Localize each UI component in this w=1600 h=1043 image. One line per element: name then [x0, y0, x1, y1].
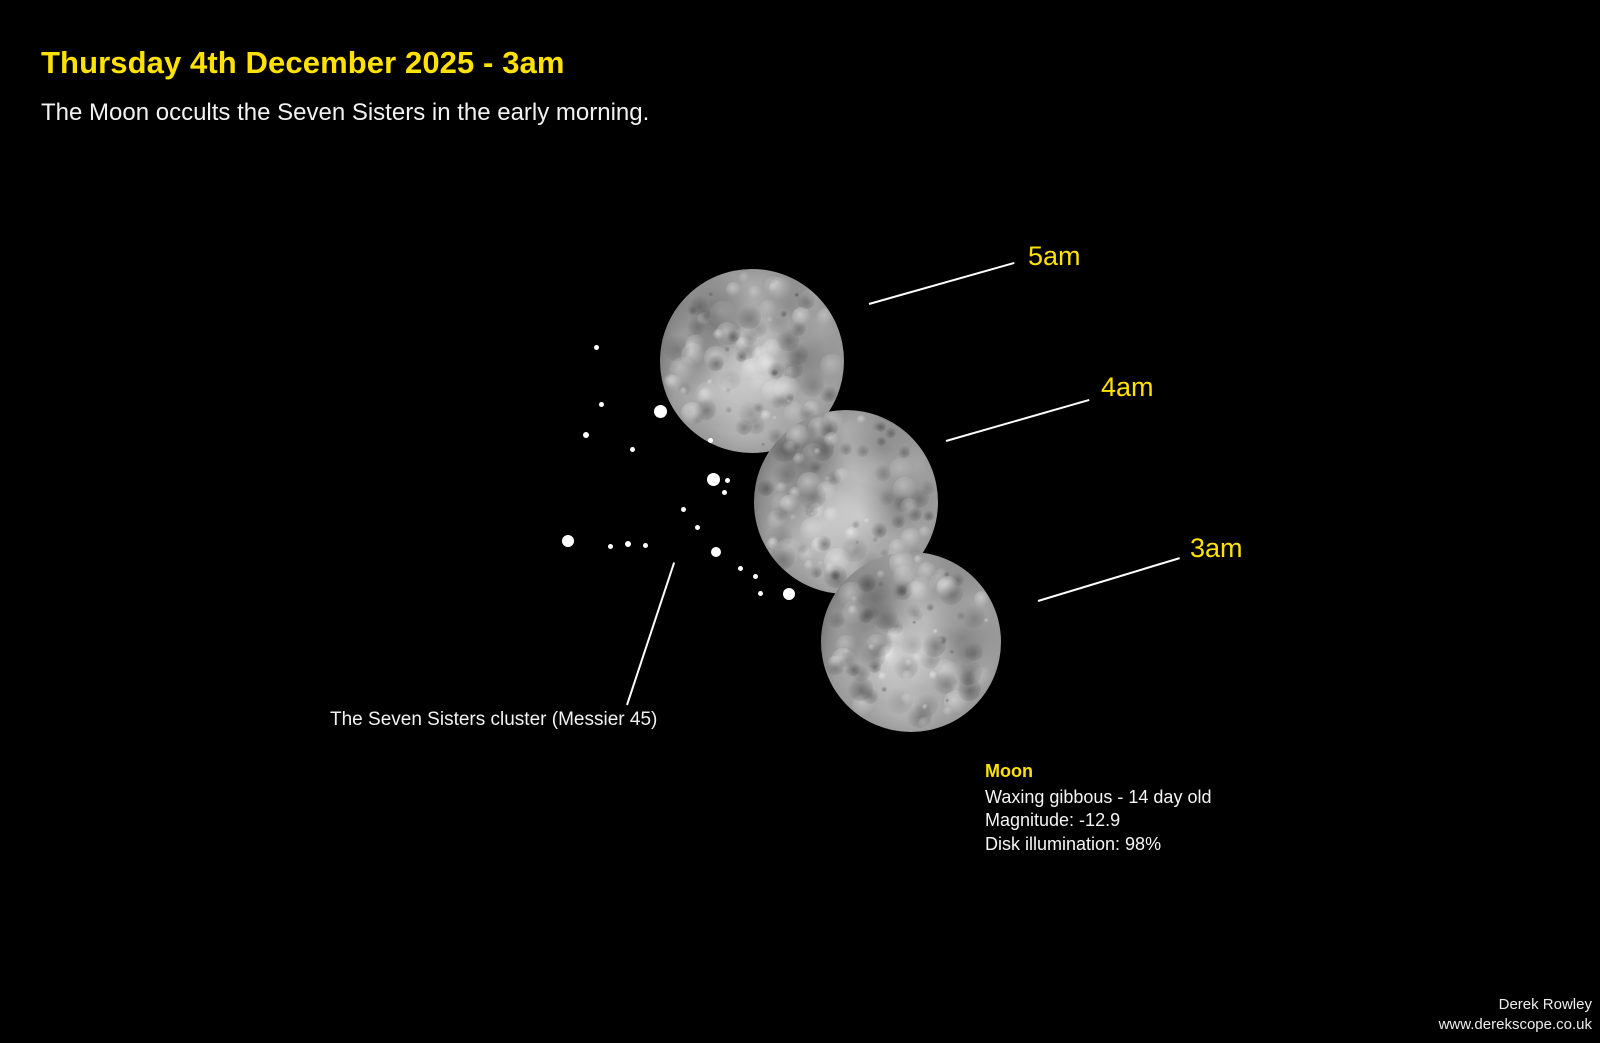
moon-crater [738, 401, 761, 424]
moon-crater [792, 307, 811, 326]
moon-crater [889, 458, 913, 482]
star-point [753, 574, 758, 579]
star-point [708, 438, 713, 443]
moon-crater [920, 480, 935, 495]
moon-crater [830, 569, 841, 580]
moon-crater [851, 596, 858, 603]
moon-crater [786, 424, 810, 448]
moon-crater [816, 535, 832, 551]
moon-crater [825, 476, 831, 482]
moon-crater [944, 571, 949, 576]
star-point [695, 525, 700, 530]
moon-crater [814, 448, 821, 455]
moon-crater [857, 573, 877, 593]
moon-crater [918, 562, 936, 580]
moon-crater [665, 375, 681, 391]
moon-crater [749, 374, 769, 394]
moon-crater [837, 651, 853, 667]
leader-4am [946, 399, 1090, 442]
star-point [738, 566, 743, 571]
moon-crater [913, 653, 921, 661]
moon-crater [786, 392, 794, 400]
moon-crater [877, 580, 884, 587]
moon-crater [852, 694, 875, 717]
moon-crater [862, 687, 879, 704]
moon-crater [864, 605, 879, 620]
star-point [711, 547, 721, 557]
moon-crater [824, 548, 851, 575]
moon-crater [725, 406, 732, 413]
moon-crater [769, 283, 777, 291]
star-point [654, 405, 667, 418]
moon-crater [736, 337, 750, 351]
moon-crater [752, 346, 770, 364]
moon-crater [753, 402, 763, 412]
moon-crater [695, 398, 716, 419]
moon-crater [698, 388, 713, 403]
moon-crater [858, 607, 873, 622]
star-point [758, 591, 763, 596]
moon-crater [936, 579, 956, 599]
moon-crater [669, 357, 696, 384]
moon-crater [935, 659, 956, 680]
star-point [707, 473, 720, 486]
moon-crater [699, 309, 711, 321]
star-point [725, 478, 730, 483]
sky-chart-canvas: Thursday 4th December 2025 - 3am The Moo… [0, 0, 1600, 1043]
moon-crater [962, 605, 986, 629]
moon-crater [804, 422, 818, 436]
moon-crater [874, 464, 891, 481]
moon-crater [708, 292, 712, 296]
leader-3am [1038, 557, 1181, 602]
moon-crater [707, 379, 713, 385]
moon-crater [984, 618, 989, 623]
moon-crater [876, 421, 887, 432]
moon-crater [811, 512, 815, 516]
moon-crater [839, 442, 852, 455]
moon-crater [910, 608, 923, 621]
moon-crater [878, 646, 895, 663]
moon-crater [933, 629, 937, 633]
moon-crater [717, 320, 741, 344]
moon-crater [860, 642, 886, 668]
moon-crater [757, 479, 773, 495]
moon-crater [895, 584, 907, 596]
moon-crater [914, 693, 938, 717]
moon-crater [926, 603, 934, 611]
moon-crater [799, 288, 826, 315]
moon-crater [681, 402, 703, 424]
moon-crater [919, 526, 931, 538]
moon-crater [951, 573, 964, 586]
moon-crater [810, 566, 822, 578]
credits: Derek Rowley www.derekscope.co.uk [1439, 995, 1592, 1036]
moon-crater [905, 659, 913, 667]
moon-crater [847, 544, 858, 555]
moon-crater [949, 649, 954, 654]
moon-crater [688, 318, 705, 335]
moon-crater [773, 416, 777, 420]
moon-crater [663, 334, 689, 360]
moon-crater [797, 543, 808, 554]
time-label-3am: 3am [1190, 533, 1243, 564]
moon-crater [774, 461, 796, 483]
moon-crater [820, 354, 844, 379]
star-point [643, 543, 648, 548]
moon-crater [697, 312, 711, 326]
moon-crater [800, 372, 824, 396]
star-point [681, 507, 686, 512]
moon-crater [938, 635, 947, 644]
moon-crater [757, 354, 777, 374]
moon-crater [810, 436, 835, 461]
moon-crater [686, 407, 693, 414]
moon-crater [868, 644, 875, 651]
star-point [722, 490, 727, 495]
moon-crater [790, 514, 796, 520]
moon-crater [933, 670, 957, 694]
moon-crater [851, 663, 870, 682]
moon-crater [956, 611, 965, 620]
moon-crater [906, 603, 920, 617]
moon-crater [918, 717, 930, 729]
moon-crater [909, 488, 929, 508]
moon-crater [910, 577, 935, 602]
moon-crater [695, 382, 718, 405]
moon-crater [725, 387, 731, 393]
moon-crater [923, 510, 933, 520]
moon-crater [841, 536, 867, 562]
moon-crater [736, 339, 756, 359]
moon-crater [871, 603, 897, 629]
moon-crater [848, 605, 858, 615]
moon-crater [782, 358, 803, 379]
moon-crater [922, 704, 927, 709]
moon-crater [959, 670, 975, 686]
moon-crater [724, 346, 730, 352]
moon-crater [872, 536, 878, 542]
credit-author: Derek Rowley [1439, 995, 1592, 1015]
moon-crater [939, 662, 964, 687]
moon-crater [770, 393, 786, 409]
moon-crater [770, 369, 778, 377]
moon-crater [762, 339, 783, 360]
moon-crater [892, 579, 913, 600]
star-point [599, 402, 604, 407]
moon-crater [901, 633, 922, 654]
moon-crater [838, 582, 865, 609]
moon-crater [761, 410, 772, 421]
moon-crater [851, 520, 860, 529]
moon-crater [691, 412, 703, 424]
moon-crater [735, 418, 752, 435]
moon-crater [956, 659, 982, 685]
credit-website: www.derekscope.co.uk [1439, 1015, 1592, 1035]
moon-crater [856, 444, 869, 457]
moon-crater [808, 417, 830, 439]
moon-crater [726, 282, 742, 298]
moon-crater [792, 441, 802, 451]
time-label-4am: 4am [1101, 372, 1154, 403]
moon-crater [842, 601, 866, 625]
moon-crater [760, 300, 777, 317]
moon-crater [938, 638, 944, 644]
moon-crater [741, 329, 757, 345]
moon-crater [818, 561, 823, 566]
moon-crater [957, 643, 977, 663]
moon-crater [789, 487, 801, 499]
moon-crater [794, 292, 800, 298]
moon-crater [778, 391, 794, 407]
moon-crater [719, 368, 741, 390]
moon-crater [971, 667, 993, 689]
moon-crater [791, 321, 806, 336]
moon-crater [786, 366, 798, 378]
moon-phase-line: Waxing gibbous - 14 day old [985, 786, 1211, 810]
moon-crater [893, 494, 911, 512]
moon-crater [906, 581, 927, 602]
moon-crater [824, 507, 839, 522]
moon-crater [733, 327, 756, 350]
moon-crater [748, 286, 762, 300]
moon-crater [811, 537, 827, 553]
moon-crater [707, 354, 724, 371]
moon-info-title: Moon [985, 760, 1211, 783]
moon-crater [877, 570, 886, 579]
moon-crater [935, 568, 947, 580]
moon-crater [964, 642, 983, 661]
moon-crater [907, 703, 932, 728]
moon-crater [847, 529, 854, 536]
moon-crater [737, 305, 761, 329]
moon-crater [767, 524, 792, 549]
moon-crater [793, 453, 805, 465]
moon-crater [824, 432, 839, 447]
moon-crater [735, 350, 747, 362]
moon-crater [764, 276, 784, 296]
moon-crater [878, 489, 894, 505]
moon-crater [834, 468, 849, 483]
moon-crater [880, 643, 905, 668]
moon-crater [877, 611, 899, 633]
moon-crater [727, 330, 739, 342]
moon-crater [908, 507, 922, 521]
moon-crater [739, 272, 751, 284]
moon-crater [817, 481, 836, 500]
star-point [630, 447, 635, 452]
moon-crater [929, 671, 937, 679]
moon-crater [786, 343, 807, 364]
moon-crater [866, 631, 892, 657]
moon-crater [680, 387, 688, 395]
moon-crater [704, 346, 726, 368]
moon-crater [828, 611, 846, 629]
moon-crater [808, 503, 825, 520]
moon-crater [855, 540, 859, 544]
moon-crater [685, 335, 704, 354]
moon-crater [864, 518, 869, 523]
moon-crater [846, 662, 860, 676]
moon-crater [836, 635, 856, 655]
moon-crater [776, 327, 799, 350]
moon-crater [787, 399, 792, 404]
moon-crater [826, 470, 841, 485]
moon-crater [898, 445, 911, 458]
moon-crater [848, 676, 873, 701]
moon-crater [876, 436, 886, 446]
moon-crater [888, 619, 903, 634]
moon-crater [974, 591, 991, 608]
moon-crater [780, 495, 799, 514]
moon-crater [772, 505, 788, 521]
moon-crater [774, 376, 800, 402]
moon-crater [929, 574, 947, 592]
moon-crater [871, 522, 887, 538]
moon-crater [893, 566, 914, 587]
moon-disk-3am [821, 552, 1001, 732]
moon-crater [800, 518, 824, 542]
moon-crater [797, 292, 814, 309]
cluster-caption: The Seven Sisters cluster (Messier 45) [330, 709, 657, 731]
moon-crater [685, 340, 695, 350]
moon-crater [943, 707, 952, 716]
moon-crater [776, 482, 787, 493]
moon-crater [901, 693, 913, 705]
star-point [594, 345, 599, 350]
moon-crater [681, 343, 705, 367]
moon-crater [768, 536, 779, 547]
moon-crater [767, 361, 785, 379]
moon-crater [826, 657, 843, 674]
moon-crater [771, 493, 792, 514]
moon-crater [823, 411, 843, 431]
moon-crater [709, 301, 736, 328]
moon-crater [746, 416, 764, 434]
moon-crater [881, 686, 887, 692]
moon-crater [761, 357, 776, 372]
moon-crater [767, 317, 773, 323]
moon-crater [891, 514, 905, 528]
moon-crater [817, 420, 834, 437]
star-point [625, 541, 631, 547]
moon-crater [769, 277, 792, 300]
moon-crater [867, 634, 886, 653]
moon-crater [797, 472, 821, 496]
moon-crater [825, 565, 836, 576]
moon-crater [939, 581, 963, 605]
moon-crater [945, 698, 949, 702]
moon-crater [868, 660, 881, 673]
moon-crater [799, 547, 815, 563]
moon-crater [741, 358, 764, 381]
moon-crater [857, 415, 866, 424]
moon-crater [798, 482, 826, 510]
leader-5am [869, 262, 1015, 305]
moon-crater [801, 443, 827, 469]
moon-crater [844, 649, 849, 654]
star-point [608, 544, 613, 549]
moon-crater [775, 538, 803, 566]
moon-crater [774, 280, 780, 286]
star-point [783, 588, 795, 600]
moon-crater [687, 305, 697, 315]
moon-illumination-line: Disk illumination: 98% [985, 833, 1211, 857]
moon-crater [887, 627, 905, 645]
moon-crater [893, 477, 917, 501]
star-point [562, 535, 574, 547]
moon-crater [716, 322, 739, 345]
leader-cluster [626, 563, 675, 706]
moon-crater [721, 376, 739, 394]
moon-magnitude-line: Magnitude: -12.9 [985, 809, 1211, 833]
moon-crater [664, 374, 677, 387]
moon-crater [903, 669, 911, 677]
moon-crater [922, 633, 946, 657]
moon-crater [912, 620, 916, 624]
moon-crater [957, 677, 982, 702]
moon-crater [878, 672, 887, 681]
moon-crater [769, 544, 795, 570]
moon-crater [766, 311, 787, 332]
moon-crater [894, 655, 918, 679]
moon-crater [845, 527, 859, 541]
moon-crater [749, 319, 767, 337]
moon-crater [828, 656, 842, 670]
moon-crater [767, 538, 779, 550]
moon-crater [831, 648, 855, 672]
moon-crater [902, 670, 912, 680]
moon-crater [780, 310, 787, 317]
moon-crater [951, 683, 961, 693]
moon-crater [888, 621, 905, 638]
moon-crater [885, 427, 895, 437]
moon-crater [761, 442, 765, 446]
moon-crater [804, 502, 819, 517]
moon-crater [820, 386, 837, 403]
moon-crater [937, 576, 959, 598]
moon-crater [809, 460, 822, 473]
time-label-5am: 5am [1028, 241, 1081, 272]
moon-crater [920, 649, 940, 669]
moon-crater [817, 308, 834, 325]
moon-crater [783, 441, 797, 455]
moon-crater [688, 295, 708, 315]
moon-crater [804, 560, 814, 570]
moon-crater [826, 562, 833, 569]
star-field: 5am4am3amThe Seven Sisters cluster (Mess… [0, 0, 1600, 1043]
moon-crater [900, 498, 918, 516]
star-point [583, 432, 589, 438]
moon-crater [762, 380, 785, 403]
moon-info-panel: Moon Waxing gibbous - 14 day old Magnitu… [985, 760, 1211, 857]
moon-crater [872, 421, 882, 431]
moon-crater [818, 416, 838, 436]
moon-crater [767, 510, 787, 530]
moon-crater [713, 329, 725, 341]
moon-crater [914, 555, 922, 563]
moon-crater [889, 552, 915, 576]
moon-crater [887, 687, 914, 714]
moon-crater [901, 528, 920, 547]
moon-crater [944, 690, 968, 714]
moon-crater [678, 381, 691, 394]
